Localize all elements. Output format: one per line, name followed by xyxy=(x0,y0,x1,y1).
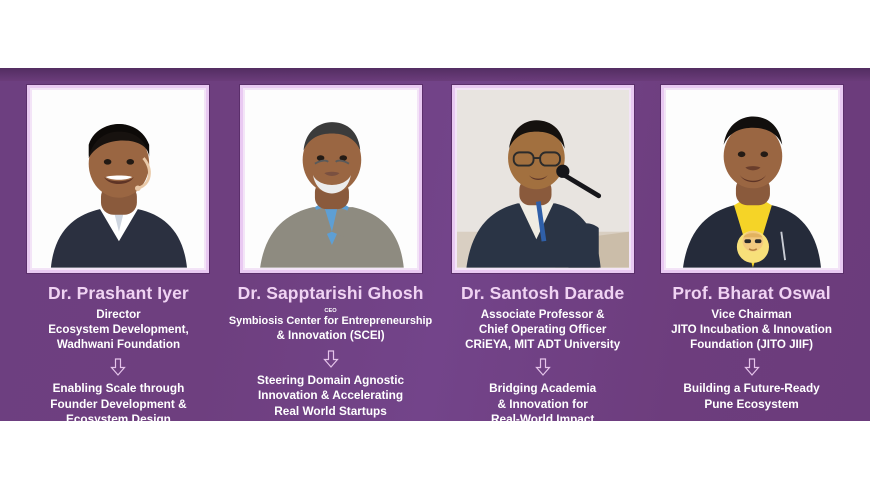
speaker-role-1: Director Ecosystem Development, Wadhwani… xyxy=(48,308,188,352)
speaker-photo-3 xyxy=(457,90,629,268)
portrait-illustration-2 xyxy=(245,90,417,268)
speaker-name-3: Dr. Santosh Darade xyxy=(461,284,624,303)
speaker-role-line: CEO xyxy=(229,308,432,315)
speaker-tagline-line: Ecosystem Design xyxy=(50,412,186,421)
speaker-photo-2 xyxy=(245,90,417,268)
speaker-photo-4 xyxy=(666,90,838,268)
speaker-tagline-line: Bridging Academia xyxy=(489,381,596,396)
speaker-tagline-line: Enabling Scale through xyxy=(50,381,186,396)
purple-banner-background: Dr. Prashant Iyer Director Ecosystem Dev… xyxy=(0,68,870,421)
speaker-role-line: Ecosystem Development, xyxy=(48,323,188,338)
speaker-tagline-line: & Innovation for xyxy=(489,397,596,412)
speaker-panel-2: Dr. Sapptarishi Ghosh CEO Symbiosis Cent… xyxy=(223,68,438,421)
speaker-role-line: & Innovation (SCEI) xyxy=(229,329,432,344)
speaker-photo-card-4 xyxy=(661,85,843,273)
speaker-role-line: Chief Operating Officer xyxy=(465,323,620,338)
speaker-tagline-2: Steering Domain Agnostic Innovation & Ac… xyxy=(257,373,404,419)
speaker-tagline-3: Bridging Academia & Innovation for Real-… xyxy=(489,381,596,421)
speaker-tagline-line: Steering Domain Agnostic xyxy=(257,373,404,388)
speaker-tagline-line: Pune Ecosystem xyxy=(683,397,819,412)
speaker-panel-1: Dr. Prashant Iyer Director Ecosystem Dev… xyxy=(14,68,223,421)
portrait-illustration-1 xyxy=(32,90,204,268)
speaker-role-2: CEO Symbiosis Center for Entrepreneurshi… xyxy=(229,308,432,344)
speaker-role-line: JITO Incubation & Innovation xyxy=(671,323,832,338)
speaker-role-line: Director xyxy=(48,308,188,323)
speaker-role-3: Associate Professor & Chief Operating Of… xyxy=(465,308,620,352)
speaker-photo-card-2 xyxy=(240,85,422,273)
speaker-role-line: Vice Chairman xyxy=(671,308,832,323)
speaker-banner-image: Dr. Prashant Iyer Director Ecosystem Dev… xyxy=(0,0,870,489)
speaker-tagline-line: Real-World Impact xyxy=(489,412,596,421)
speaker-role-line: Associate Professor & xyxy=(465,308,620,323)
speaker-tagline-4: Building a Future-Ready Pune Ecosystem xyxy=(683,381,819,412)
speaker-role-line: Wadhwani Foundation xyxy=(48,338,188,353)
speaker-tagline-line: Real World Startups xyxy=(257,404,404,419)
speaker-photo-1 xyxy=(32,90,204,268)
speaker-name-4: Prof. Bharat Oswal xyxy=(672,284,830,303)
speaker-photo-card-3 xyxy=(452,85,634,273)
speaker-photo-card-1 xyxy=(27,85,209,273)
speaker-role-line: CRiEYA, MIT ADT University xyxy=(465,338,620,353)
speaker-name-2: Dr. Sapptarishi Ghosh xyxy=(238,284,424,303)
down-arrow-icon xyxy=(744,358,760,376)
down-arrow-icon xyxy=(323,350,339,368)
speaker-panel-3: Dr. Santosh Darade Associate Professor &… xyxy=(438,68,647,421)
speaker-role-4: Vice Chairman JITO Incubation & Innovati… xyxy=(671,308,832,352)
speaker-grid: Dr. Prashant Iyer Director Ecosystem Dev… xyxy=(0,68,870,421)
portrait-illustration-3 xyxy=(457,90,629,268)
speaker-tagline-line: Founder Development & xyxy=(50,397,186,412)
speaker-panel-4: Prof. Bharat Oswal Vice Chairman JITO In… xyxy=(647,68,856,421)
speaker-role-line: Foundation (JITO JIIF) xyxy=(671,338,832,353)
speaker-name-1: Dr. Prashant Iyer xyxy=(48,284,189,303)
down-arrow-icon xyxy=(110,358,126,376)
down-arrow-icon xyxy=(535,358,551,376)
speaker-tagline-1: Enabling Scale through Founder Developme… xyxy=(50,381,186,421)
speaker-role-line: Symbiosis Center for Entrepreneurship xyxy=(229,315,432,329)
speaker-tagline-line: Innovation & Accelerating xyxy=(257,388,404,403)
speaker-tagline-line: Building a Future-Ready xyxy=(683,381,819,396)
portrait-illustration-4 xyxy=(666,90,838,268)
